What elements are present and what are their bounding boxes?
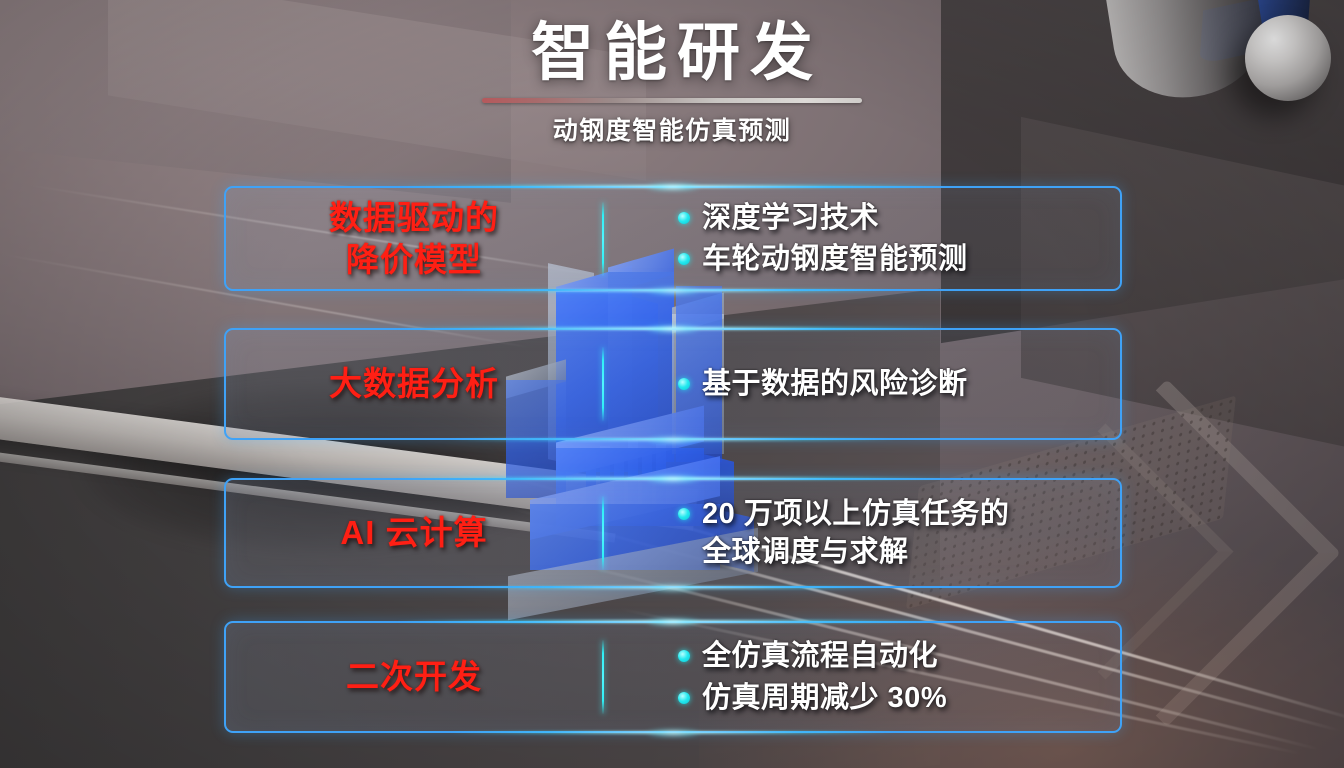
bullet-label: 深度学习技术 bbox=[702, 199, 879, 237]
title-underline bbox=[482, 98, 862, 103]
page-title: 智能研发 bbox=[0, 18, 1344, 89]
bullet-label: 基于数据的风险诊断 bbox=[702, 365, 968, 403]
card-bullet-area: 深度学习技术 车轮动钢度智能预测 bbox=[604, 196, 1120, 282]
card-bullet-area: 基于数据的风险诊断 bbox=[604, 362, 1120, 406]
bullet-label: 仿真周期减少 30% bbox=[702, 679, 947, 717]
list-item: 深度学习技术 bbox=[678, 199, 1120, 237]
card-top-glow bbox=[396, 477, 950, 480]
feature-card[interactable]: 二次开发 全仿真流程自动化 仿真周期减少 30% bbox=[224, 621, 1122, 733]
bullet-dot-icon bbox=[678, 650, 690, 662]
card-title: 二次开发 bbox=[232, 656, 596, 697]
bullet-dot-icon bbox=[678, 378, 690, 390]
card-title-area: 大数据分析 bbox=[226, 363, 596, 404]
card-top-glow bbox=[396, 327, 950, 330]
bullet-label: 车轮动钢度智能预测 bbox=[702, 240, 968, 278]
bullet-dot-icon bbox=[678, 212, 690, 224]
card-top-glow bbox=[396, 620, 950, 623]
list-item: 全仿真流程自动化 bbox=[678, 637, 1120, 675]
card-title-area: 二次开发 bbox=[226, 656, 596, 697]
list-item: 20 万项以上仿真任务的 全球调度与求解 bbox=[678, 495, 1120, 572]
slide-root: 智能研发 动钢度智能仿真预测 数据驱动的 降价模型 深度学习技术 车轮动钢度智能… bbox=[0, 0, 1344, 768]
bullet-dot-icon bbox=[678, 253, 690, 265]
card-title: AI 云计算 bbox=[232, 512, 596, 553]
title-block: 智能研发 动钢度智能仿真预测 bbox=[0, 18, 1344, 147]
card-bottom-glow bbox=[450, 289, 897, 292]
card-title-area: AI 云计算 bbox=[226, 512, 596, 553]
bullet-dot-icon bbox=[678, 692, 690, 704]
bullet-dot-icon bbox=[678, 508, 690, 520]
card-bottom-glow bbox=[450, 731, 897, 734]
list-item: 基于数据的风险诊断 bbox=[678, 365, 1120, 403]
card-bottom-glow bbox=[450, 438, 897, 441]
card-title: 大数据分析 bbox=[232, 363, 596, 404]
bullet-label: 全仿真流程自动化 bbox=[702, 637, 938, 675]
bullet-label: 20 万项以上仿真任务的 全球调度与求解 bbox=[702, 495, 1009, 572]
list-item: 车轮动钢度智能预测 bbox=[678, 240, 1120, 278]
feature-card[interactable]: 数据驱动的 降价模型 深度学习技术 车轮动钢度智能预测 bbox=[224, 186, 1122, 291]
card-bullet-area: 全仿真流程自动化 仿真周期减少 30% bbox=[604, 634, 1120, 720]
card-title: 数据驱动的 降价模型 bbox=[232, 197, 596, 280]
card-title-area: 数据驱动的 降价模型 bbox=[226, 197, 596, 280]
feature-card[interactable]: 大数据分析 基于数据的风险诊断 bbox=[224, 328, 1122, 440]
card-bottom-glow bbox=[450, 586, 897, 589]
list-item: 仿真周期减少 30% bbox=[678, 679, 1120, 717]
feature-card[interactable]: AI 云计算 20 万项以上仿真任务的 全球调度与求解 bbox=[224, 478, 1122, 588]
card-top-glow bbox=[396, 185, 950, 188]
card-bullet-area: 20 万项以上仿真任务的 全球调度与求解 bbox=[604, 492, 1120, 575]
page-subtitle: 动钢度智能仿真预测 bbox=[0, 111, 1344, 147]
